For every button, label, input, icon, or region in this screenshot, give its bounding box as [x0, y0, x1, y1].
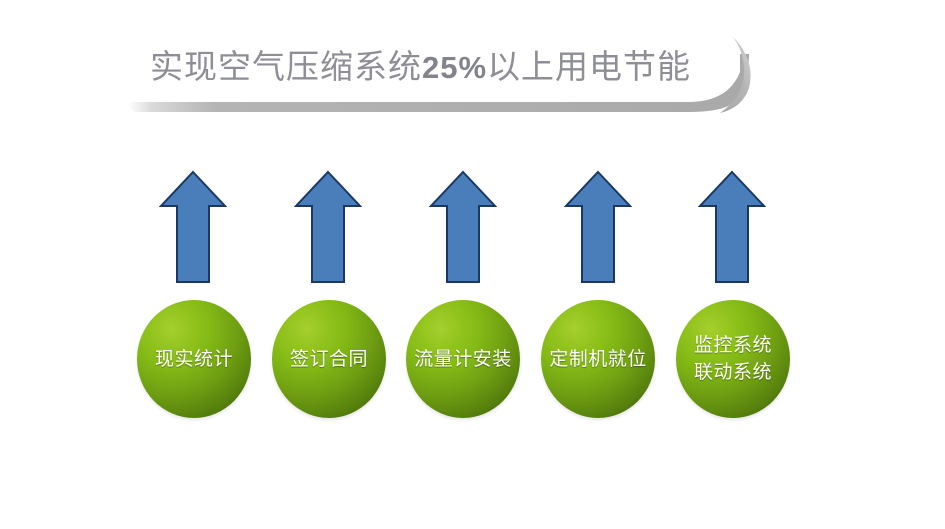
- slide-canvas: 实现空气压缩系统25%以上用电节能 现实统计 签订合同 流量计安装 定制机就位 …: [0, 0, 945, 529]
- process-node-1-label: 现实统计: [137, 346, 251, 373]
- up-arrow-1: [159, 170, 227, 284]
- up-arrow-3: [429, 170, 497, 284]
- process-node-5[interactable]: 监控系统 联动系统: [676, 300, 790, 418]
- process-node-5-label: 监控系统 联动系统: [676, 332, 790, 386]
- up-arrow-2: [294, 170, 362, 284]
- up-arrow-5: [698, 170, 766, 284]
- title-part-after: 以上用电节能: [487, 50, 691, 86]
- process-node-4-label: 定制机就位: [541, 346, 655, 373]
- page-title: 实现空气压缩系统25%以上用电节能: [150, 42, 750, 94]
- process-node-3[interactable]: 流量计安装: [406, 300, 520, 418]
- process-node-1[interactable]: 现实统计: [137, 300, 251, 418]
- up-arrow-4: [564, 170, 632, 284]
- title-part-before: 实现空气压缩系统: [150, 50, 422, 86]
- process-node-2[interactable]: 签订合同: [272, 300, 386, 418]
- process-node-4[interactable]: 定制机就位: [541, 300, 655, 418]
- title-percent: 25%: [422, 50, 487, 85]
- title-banner: 实现空气压缩系统25%以上用电节能: [128, 34, 778, 116]
- process-node-2-label: 签订合同: [272, 346, 386, 373]
- process-node-3-label: 流量计安装: [406, 346, 520, 373]
